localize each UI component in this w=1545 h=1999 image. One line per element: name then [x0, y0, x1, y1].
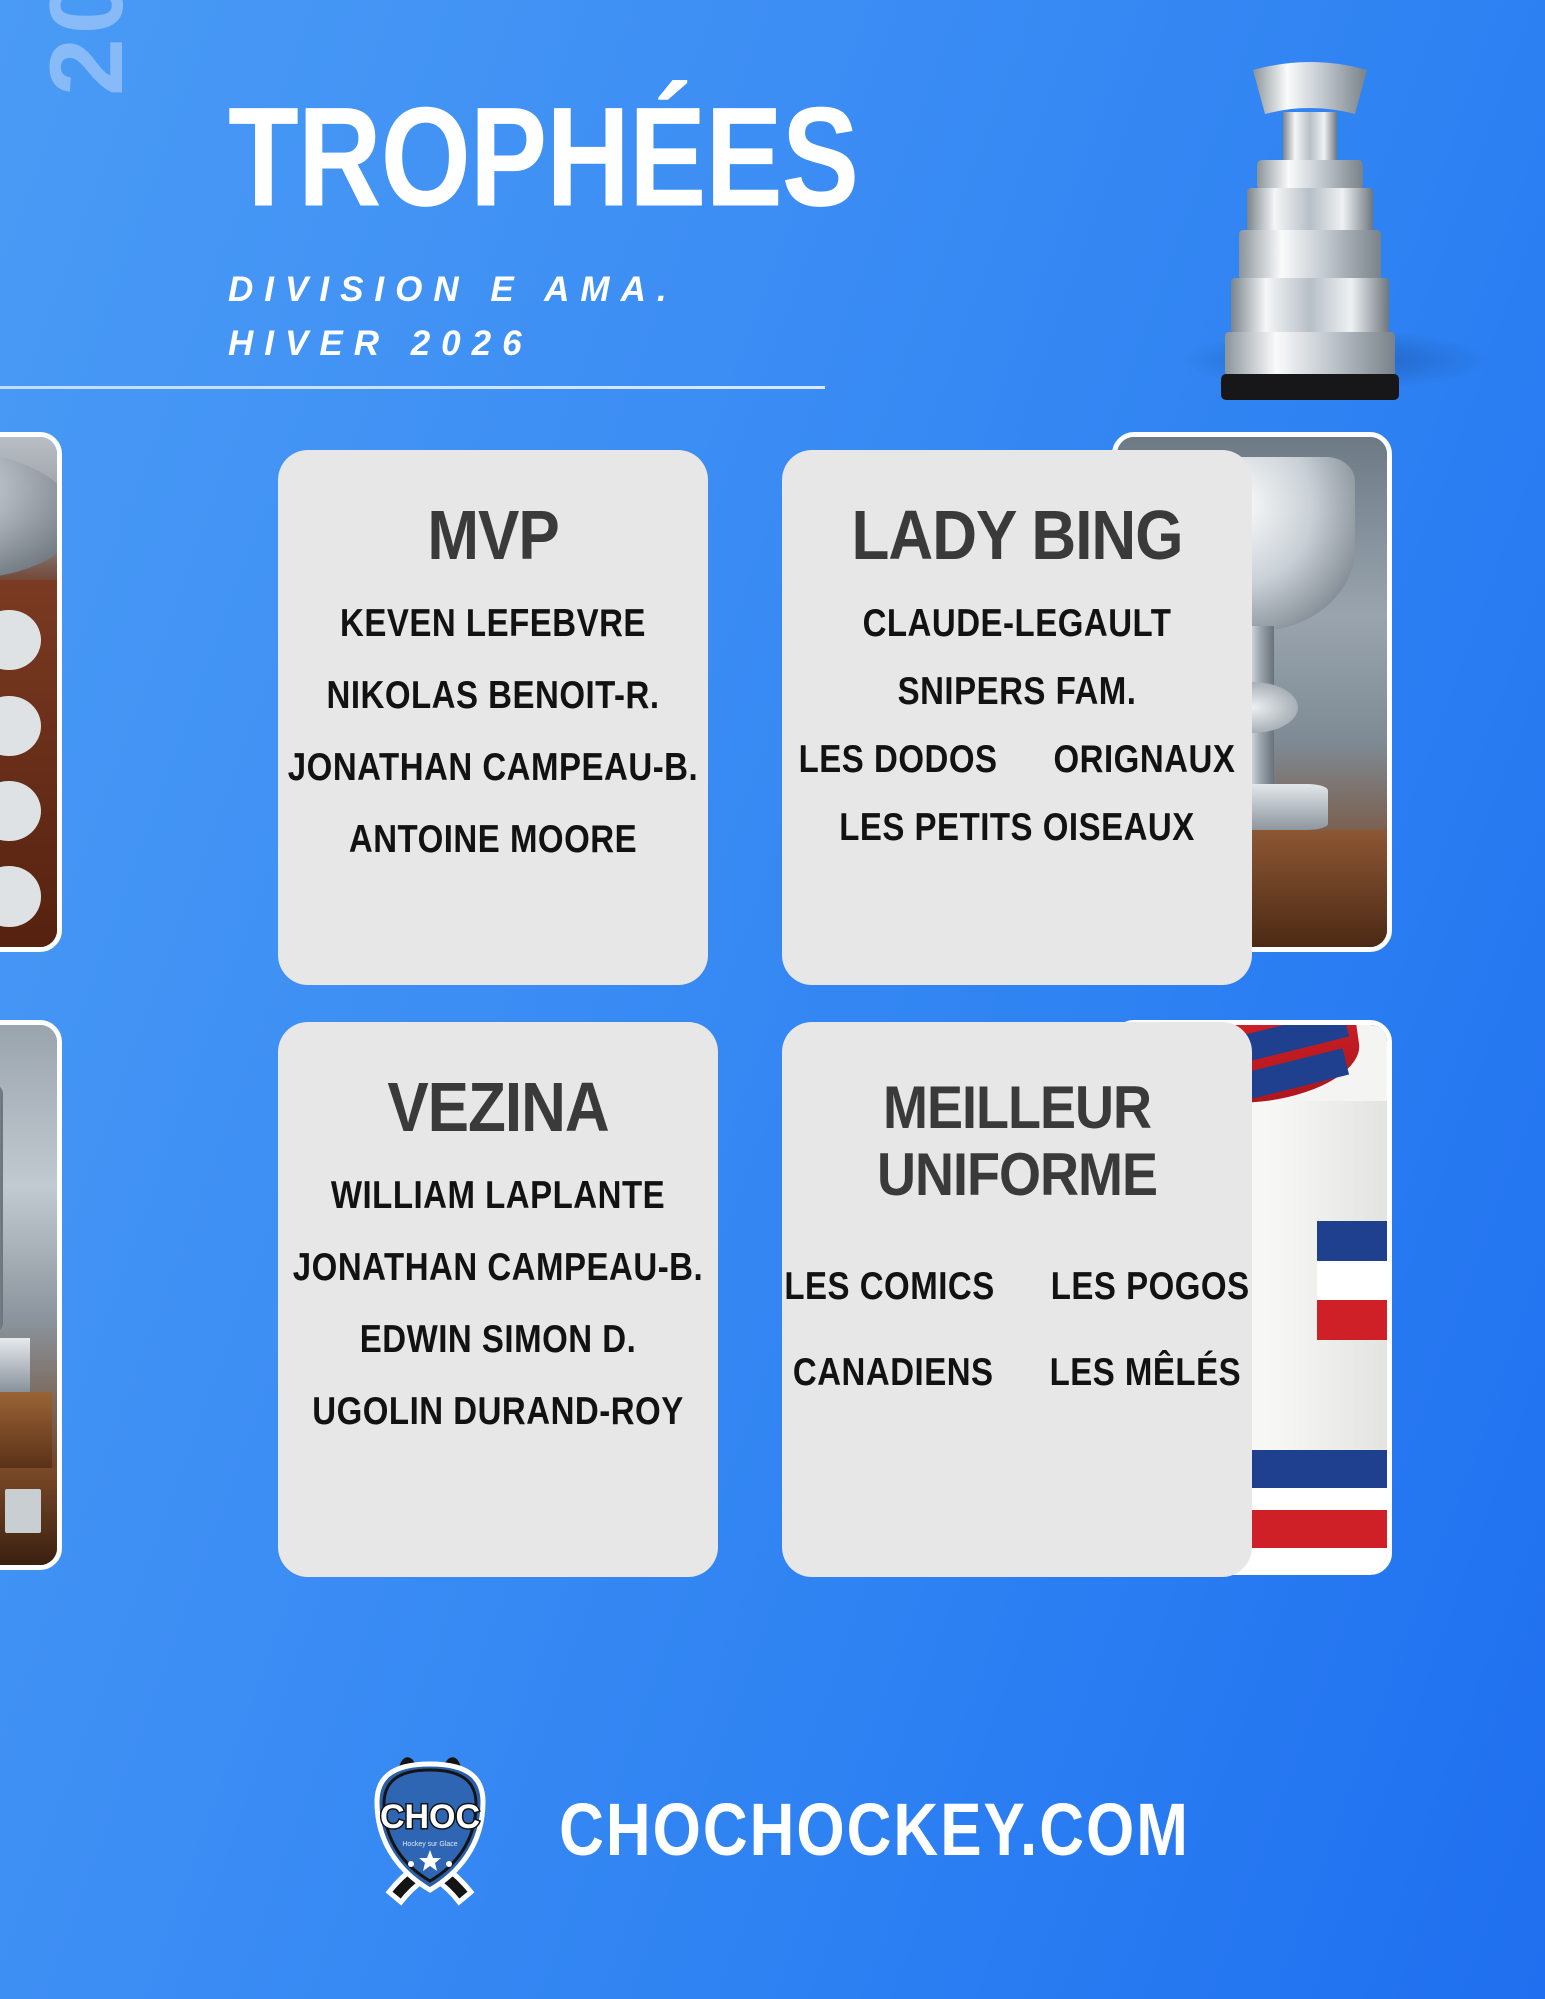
list-item: CANADIENS — [793, 1350, 994, 1395]
list-item: LES POGOS — [1051, 1264, 1250, 1309]
list-item: JONATHAN CAMPEAU-B. — [293, 1245, 703, 1290]
list-item: LES DODOS — [799, 737, 998, 782]
list-item: ORIGNAUX — [1054, 737, 1236, 782]
poster-header: 2026 TROPHÉES DIVISION E AMA. HIVER 2026 — [0, 0, 1545, 430]
award-card-lady-bing[interactable]: LADY BING CLAUDE-LEGAULT SNIPERS FAM. LE… — [782, 450, 1252, 985]
title-block: TROPHÉES DIVISION E AMA. HIVER 2026 — [228, 92, 858, 371]
award-title-vezina: VEZINA — [387, 1074, 608, 1143]
year-badge-vertical: 2026 — [28, 0, 147, 96]
website-url[interactable]: CHOCHOCKEY.COM — [559, 1787, 1190, 1872]
subtitle-line-1: DIVISION E AMA. — [228, 263, 858, 317]
award-winner-list-mvp: KEVEN LEFEBVRE NIKOLAS BENOIT-R. JONATHA… — [278, 604, 708, 858]
header-divider — [0, 386, 825, 389]
page-title: TROPHÉES — [228, 92, 858, 222]
svg-text:Hockey sur Glace: Hockey sur Glace — [402, 1841, 457, 1848]
table-row: LES COMICS LES POGOS — [782, 1267, 1252, 1305]
list-item: SNIPERS FAM. — [898, 669, 1137, 714]
list-item: WILLIAM LAPLANTE — [331, 1173, 665, 1218]
svg-text:CHOC: CHOC — [380, 1798, 480, 1836]
awards-grid: MVP KEVEN LEFEBVRE NIKOLAS BENOIT-R. JON… — [0, 432, 1545, 1682]
award-title-mvp: MVP — [427, 502, 558, 571]
mvp-trophy-photo — [0, 432, 62, 952]
vezina-trophy-photo — [0, 1020, 62, 1570]
list-item: LES COMICS — [784, 1264, 994, 1309]
list-item: UGOLIN DURAND-ROY — [312, 1389, 683, 1434]
choc-logo-icon: CHOC Hockey sur Glace — [355, 1750, 505, 1910]
list-item: KEVEN LEFEBVRE — [340, 601, 646, 646]
award-card-mvp[interactable]: MVP KEVEN LEFEBVRE NIKOLAS BENOIT-R. JON… — [278, 450, 708, 985]
table-row: LES DODOS ORIGNAUX — [782, 740, 1252, 778]
list-item: ANTOINE MOORE — [349, 817, 637, 862]
award-title-lady-bing: LADY BING — [852, 502, 1183, 571]
award-title-meilleur-uniforme: MEILLEUR UNIFORME — [877, 1074, 1157, 1209]
award-winner-list-lady-bing: CLAUDE-LEGAULT SNIPERS FAM. LES DODOS OR… — [782, 604, 1252, 846]
list-item: LES MÊLÉS — [1050, 1350, 1242, 1395]
list-item: CLAUDE-LEGAULT — [863, 601, 1172, 646]
award-winner-list-vezina: WILLIAM LAPLANTE JONATHAN CAMPEAU-B. EDW… — [278, 1176, 718, 1430]
award-title-line-1: MEILLEUR — [877, 1074, 1157, 1142]
subtitle-line-2: HIVER 2026 — [228, 317, 858, 371]
award-card-vezina[interactable]: VEZINA WILLIAM LAPLANTE JONATHAN CAMPEAU… — [278, 1022, 718, 1577]
award-card-meilleur-uniforme[interactable]: MEILLEUR UNIFORME LES COMICS LES POGOS C… — [782, 1022, 1252, 1577]
list-item: JONATHAN CAMPEAU-B. — [288, 745, 698, 790]
award-winner-list-meilleur-uniforme: LES COMICS LES POGOS CANADIENS LES MÊLÉS — [782, 1267, 1252, 1391]
list-item: NIKOLAS BENOIT-R. — [326, 673, 659, 718]
subtitle: DIVISION E AMA. HIVER 2026 — [228, 263, 858, 372]
championship-cup-icon — [1195, 60, 1425, 410]
list-item: LES PETITS OISEAUX — [839, 805, 1195, 850]
table-row: CANADIENS LES MÊLÉS — [782, 1353, 1252, 1391]
award-title-line-2: UNIFORME — [877, 1142, 1157, 1210]
poster-footer: CHOC Hockey sur Glace CHOCHOCKEY.COM — [0, 1720, 1545, 1940]
list-item: EDWIN SIMON D. — [360, 1317, 637, 1362]
